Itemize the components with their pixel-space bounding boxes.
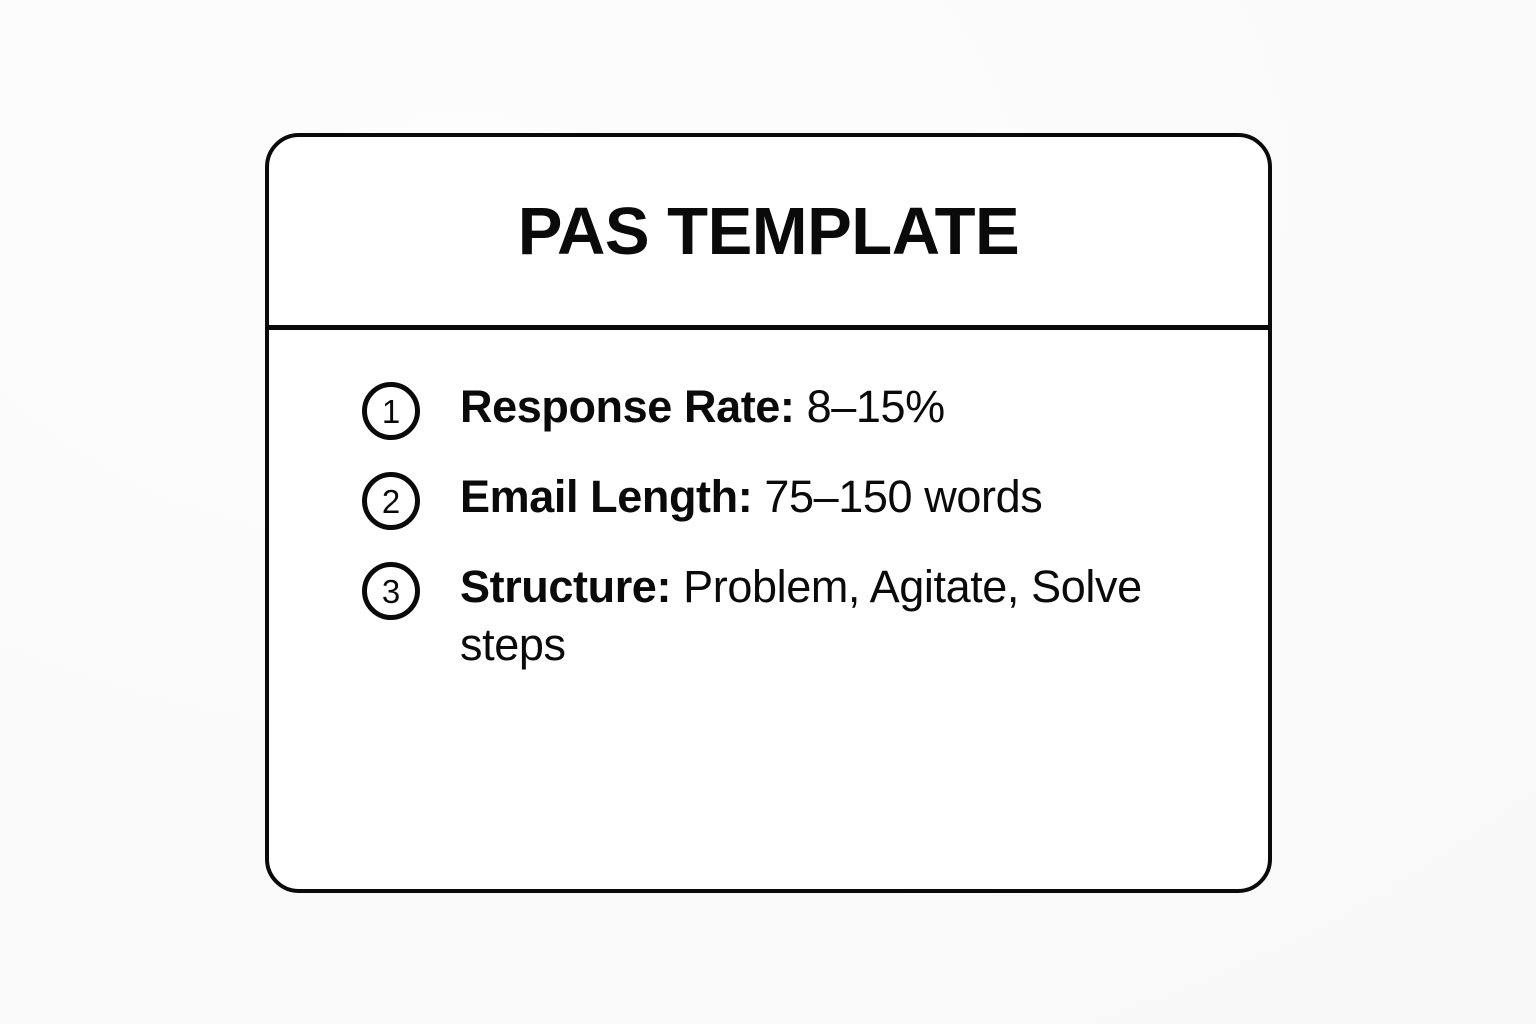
- card-body: 1 Response Rate: 8–15% 2 Email Length: 7…: [269, 330, 1268, 889]
- list-item-text: Response Rate: 8–15%: [460, 378, 945, 436]
- list-item-text: Structure: Problem, Agitate, Solve steps: [460, 558, 1208, 674]
- list-item-value: 8–15%: [807, 381, 945, 432]
- page-title: PAS TEMPLATE: [518, 198, 1019, 265]
- list-item-label: Response Rate:: [460, 381, 795, 432]
- number-badge-2-icon: 2: [362, 472, 420, 530]
- number-badge-1-icon: 1: [362, 382, 420, 440]
- pas-template-card: PAS TEMPLATE 1 Response Rate: 8–15% 2 Em…: [265, 133, 1272, 893]
- list-item-label: Email Length:: [460, 471, 752, 522]
- list-item-value: 75–150 words: [764, 471, 1042, 522]
- number-badge-3-icon: 3: [362, 562, 420, 620]
- list-item: 1 Response Rate: 8–15%: [362, 378, 1208, 440]
- numbered-item-list: 1 Response Rate: 8–15% 2 Email Length: 7…: [362, 378, 1208, 674]
- list-item-label: Structure:: [460, 561, 671, 612]
- canvas-background: PAS TEMPLATE 1 Response Rate: 8–15% 2 Em…: [0, 0, 1536, 1024]
- list-item: 2 Email Length: 75–150 words: [362, 468, 1208, 530]
- list-item-text: Email Length: 75–150 words: [460, 468, 1042, 526]
- card-header: PAS TEMPLATE: [269, 137, 1268, 330]
- list-item: 3 Structure: Problem, Agitate, Solve ste…: [362, 558, 1208, 674]
